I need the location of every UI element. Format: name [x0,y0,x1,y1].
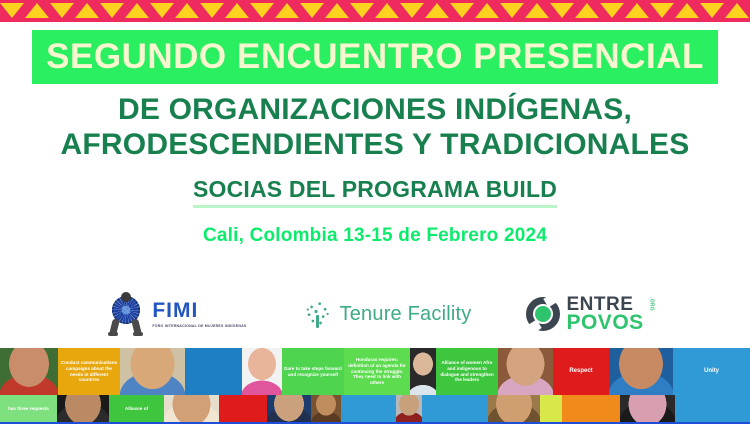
zigzag-triangle [150,3,174,18]
zigzag-triangle [100,3,124,18]
participant-video-thumbnail [498,348,553,395]
fimi-emblem-icon [106,292,146,336]
zigzag-triangle [300,3,324,18]
filmstrip-participant-tile [609,348,673,395]
zigzag-triangle [325,3,349,18]
zigzag-triangle [475,3,499,18]
filmstrip-caption-text: Honduras requires: definition of an agen… [344,348,410,395]
tenure-facility-wordmark: Tenure Facility [340,303,472,326]
filmstrip-caption-tile: Alliance of women Afro and indigenous to… [436,348,498,395]
filmstrip-participant-tile [57,395,109,422]
page-title-line2: DE ORGANIZACIONES INDÍGENAS, [0,94,750,126]
filmstrip-participant-tile [120,348,185,395]
filmstrip-caption-tile: Conduct communications campaigns about t… [58,348,120,395]
participant-video-thumbnail [242,348,282,395]
filmstrip-caption-tile: Dare to take steps forward and recognize… [282,348,344,395]
filmstrip-caption-tile: Alliance of [109,395,164,422]
filmstrip-color-tile [540,395,562,422]
filmstrip-color-tile [422,395,488,422]
zigzag-triangle [500,3,524,18]
zigzag-triangle [125,3,149,18]
zigzag-triangle [525,3,549,18]
page-title-line4: SOCIAS DEL PROGRAMA BUILD [193,176,557,208]
zigzag-triangle [200,3,224,18]
participant-video-thumbnail [410,348,436,395]
zigzag-triangle [50,3,74,18]
zigzag-triangle [550,3,574,18]
filmstrip-color-tile [341,395,396,422]
zigzag-triangle [350,3,374,18]
zigzag-triangle [175,3,199,18]
logo-fimi: FIMI FORO INTERNACIONAL DE MUJERES INDÍG… [106,292,246,336]
logo-entre-povos: ENTRE POVOS .ORG [526,296,643,333]
filmstrip-caption-text: has three requests [0,395,57,422]
fimi-tagline: FORO INTERNACIONAL DE MUJERES INDÍGENAS [152,324,246,329]
filmstrip-participant-tile [396,395,422,422]
filmstrip-caption-tile: Unity [673,348,750,395]
entre-povos-word-povos: POVOS [566,313,643,332]
zigzag-triangle [725,3,749,18]
filmstrip-participant-tile [620,395,675,422]
filmstrip-participant-tile [242,348,282,395]
zigzag-triangle [400,3,424,18]
zigzag-triangle-row [0,3,750,19]
headline-block: SEGUNDO ENCUENTRO PRESENCIAL DE ORGANIZA… [0,30,750,247]
zigzag-triangle [0,3,24,18]
participant-video-thumbnail [267,395,311,422]
zigzag-triangle [275,3,299,18]
zigzag-triangle [600,3,624,18]
page-title-main: SEGUNDO ENCUENTRO PRESENCIAL [32,30,718,84]
participant-video-thumbnail [488,395,540,422]
entre-povos-circle-icon [526,297,560,331]
participant-video-thumbnail [396,395,422,422]
participant-video-thumbnail [311,395,341,422]
participant-filmstrip: Conduct communications campaigns about t… [0,348,750,424]
filmstrip-caption-tile: Honduras requires: definition of an agen… [344,348,410,395]
zigzag-triangle [225,3,249,18]
border-edge-bottom [0,19,750,22]
filmstrip-participant-tile [0,348,58,395]
zigzag-triangle [650,3,674,18]
zigzag-triangle [675,3,699,18]
filmstrip-caption-text: Unity [673,348,750,395]
zigzag-triangle [75,3,99,18]
zigzag-triangle [575,3,599,18]
zigzag-triangle [375,3,399,18]
tenure-facility-tree-icon [302,298,334,330]
zigzag-triangle [450,3,474,18]
filmstrip-participant-tile [164,395,219,422]
filmstrip-participant-tile [410,348,436,395]
participant-video-thumbnail [57,395,109,422]
participant-video-thumbnail [120,348,185,395]
filmstrip-caption-text: Conduct communications campaigns about t… [58,348,120,395]
zigzag-triangle [625,3,649,18]
participant-video-thumbnail [609,348,673,395]
filmstrip-row-1: Conduct communications campaigns about t… [0,348,750,395]
filmstrip-caption-tile: has three requests [0,395,57,422]
filmstrip-participant-tile [488,395,540,422]
border-edge-top [0,0,750,3]
filmstrip-row-2: has three requestsAlliance of [0,395,750,422]
zigzag-triangle [25,3,49,18]
filmstrip-color-tile [219,395,267,422]
participant-video-thumbnail [0,348,58,395]
participant-video-thumbnail [620,395,675,422]
sponsor-logo-row: FIMI FORO INTERNACIONAL DE MUJERES INDÍG… [0,292,750,336]
filmstrip-color-tile [185,348,242,395]
poster-canvas: SEGUNDO ENCUENTRO PRESENCIAL DE ORGANIZA… [0,0,750,424]
filmstrip-caption-text: Alliance of [109,395,164,422]
zigzag-triangle [250,3,274,18]
entre-povos-domain-suffix: .ORG [649,297,654,311]
tribal-zigzag-border [0,0,750,22]
filmstrip-caption-text: Respect [553,348,609,395]
filmstrip-caption-text: Dare to take steps forward and recognize… [282,348,344,395]
filmstrip-participant-tile [498,348,553,395]
page-title-line3: AFRODESCENDIENTES Y TRADICIONALES [0,129,750,161]
event-date-location: Cali, Colombia 13-15 de Febrero 2024 [0,225,750,247]
participant-video-thumbnail [164,395,219,422]
fimi-wordmark: FIMI [152,300,246,321]
filmstrip-participant-tile [267,395,311,422]
filmstrip-caption-tile: Respect [553,348,609,395]
zigzag-triangle [425,3,449,18]
filmstrip-caption-text: Alliance of women Afro and indigenous to… [436,348,498,395]
filmstrip-participant-tile [311,395,341,422]
zigzag-triangle [700,3,724,18]
filmstrip-color-tile [675,395,750,422]
logo-tenure-facility: Tenure Facility [302,298,472,330]
filmstrip-color-tile [562,395,620,422]
